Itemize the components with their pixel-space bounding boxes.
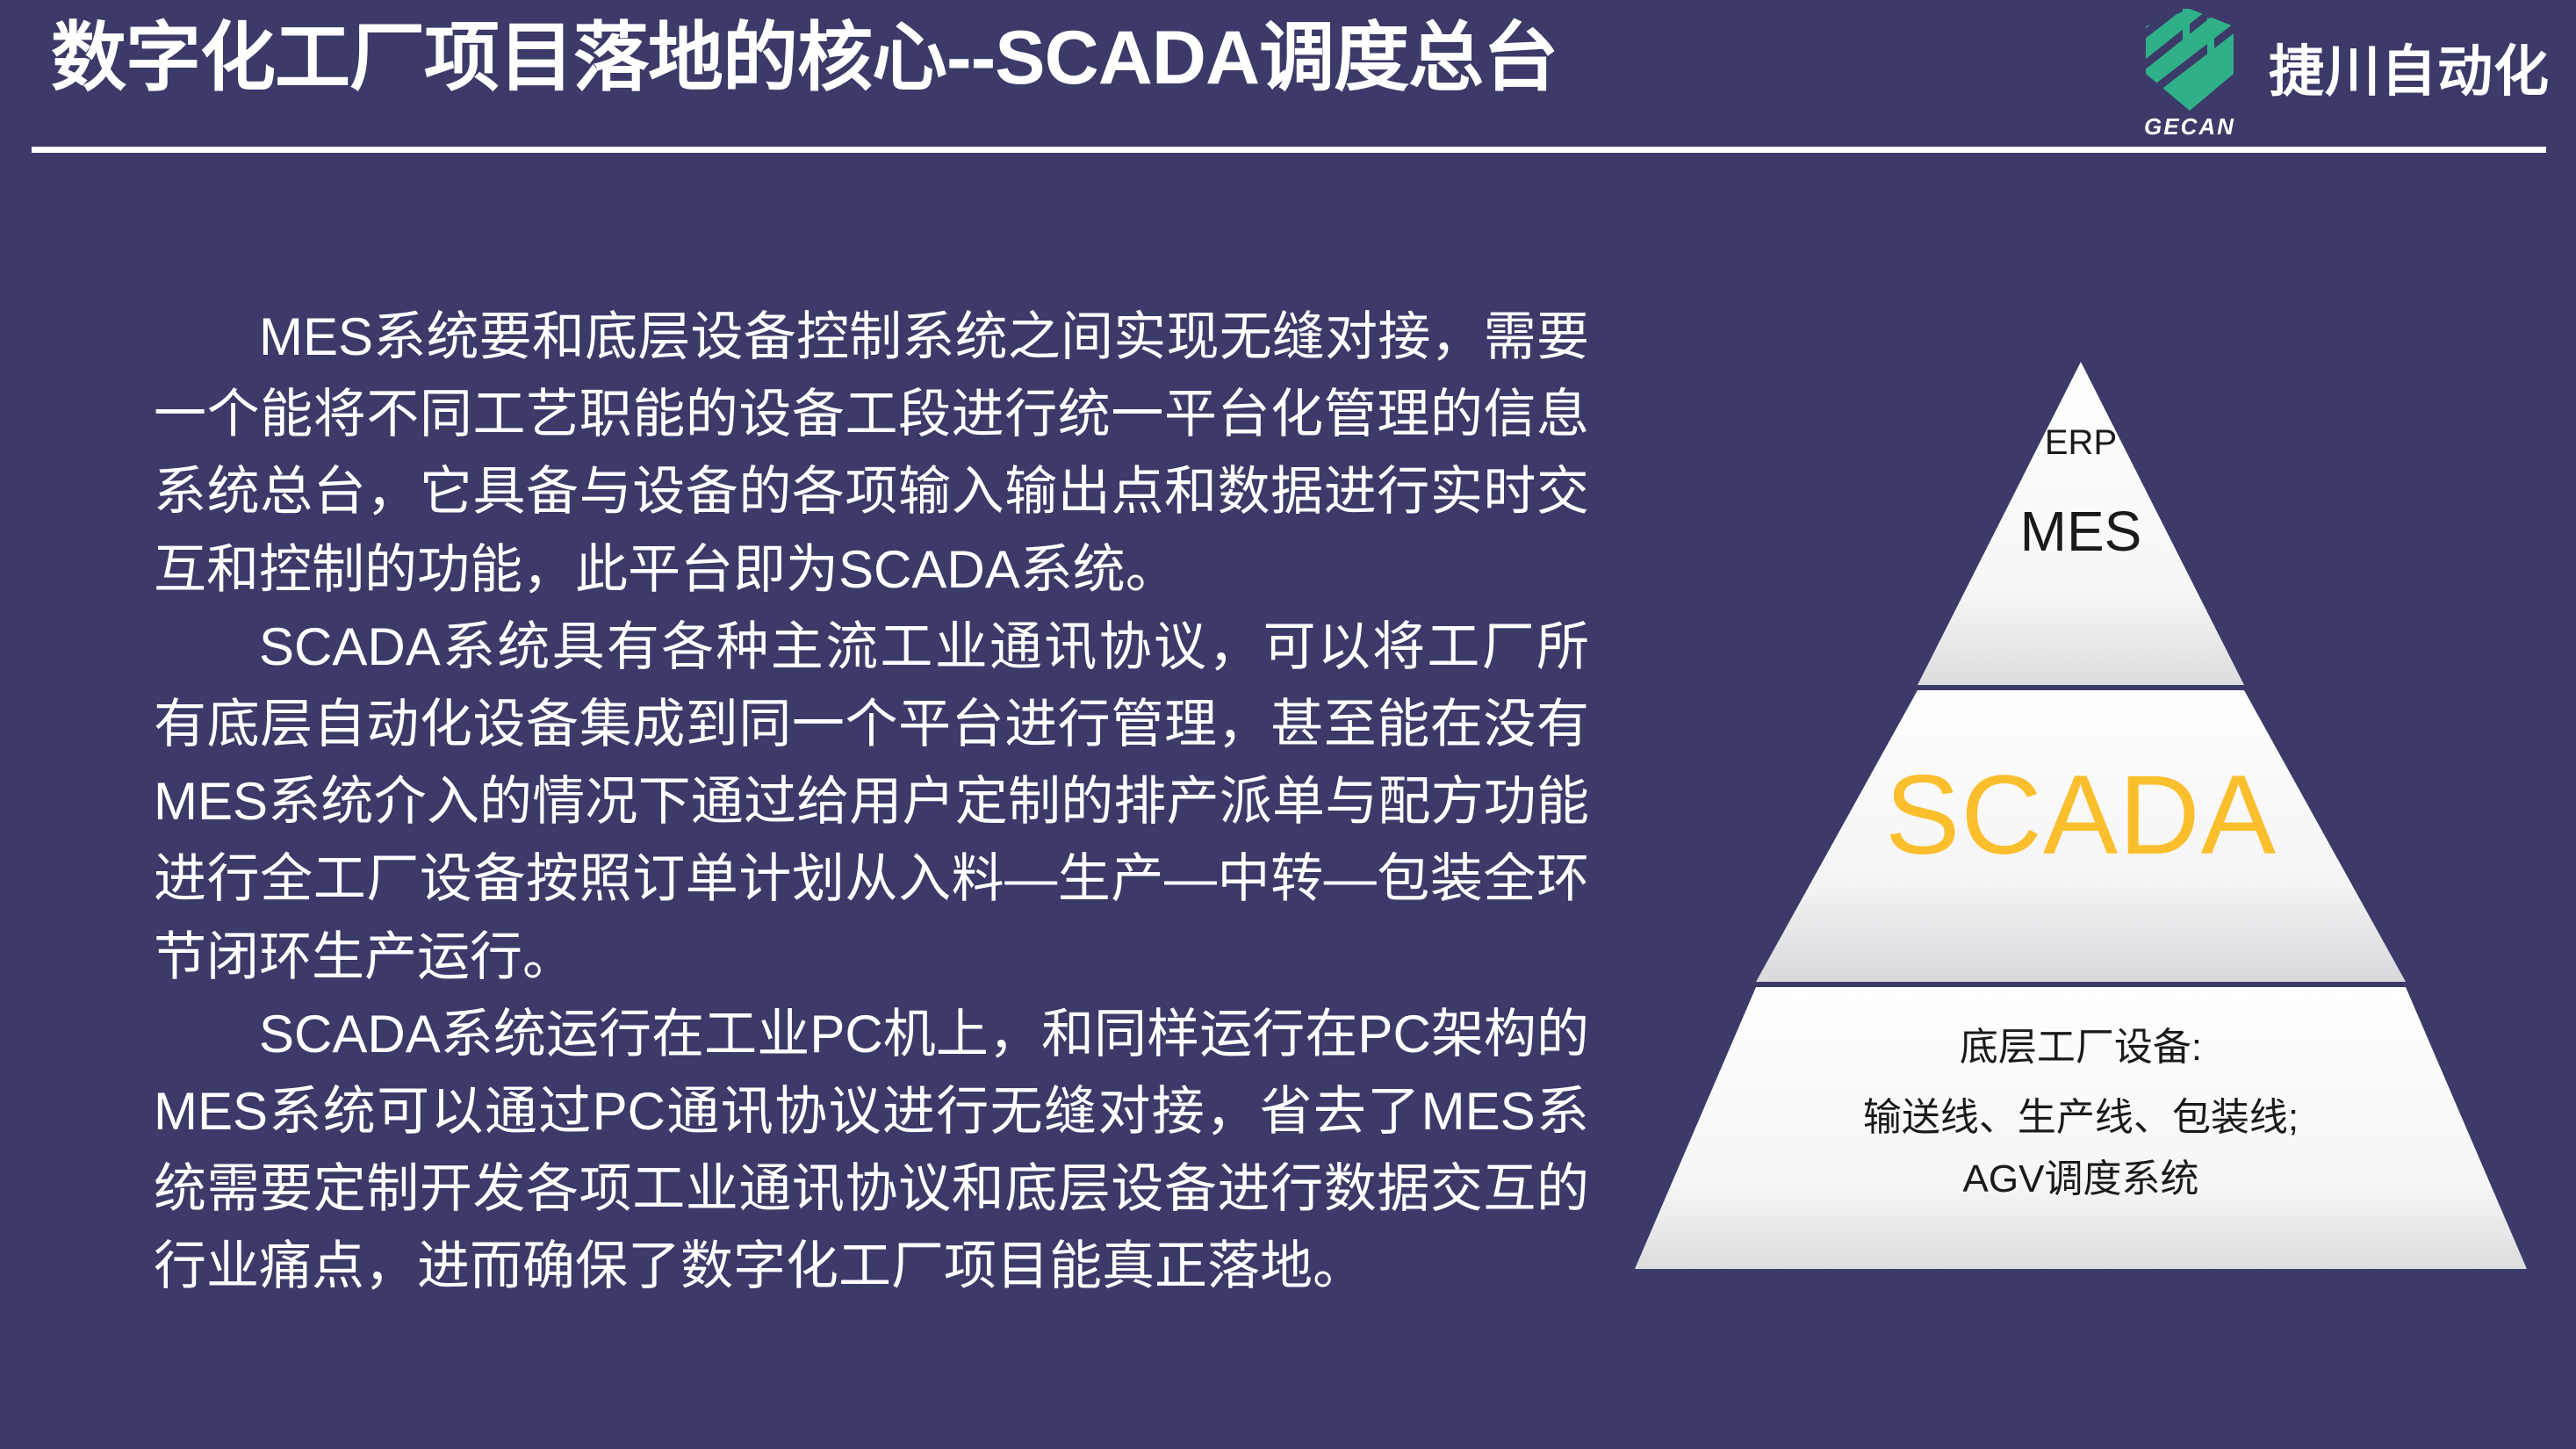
pyramid-diagram: ERP MES SCADA 底层工厂设备: 输送线、生产线、包装线; AGV调度…: [1615, 342, 2546, 1287]
pyramid-base-line-1: 输送线、生产线、包装线;: [1615, 1085, 2546, 1142]
brand-logo-group: GECAN 捷川自动化: [2133, 7, 2550, 139]
paragraph-1: MES系统要和底层设备控制系统之间实现无缝对接，需要一个能将不同工艺职能的设备工…: [154, 299, 1589, 609]
body-content: MES系统要和底层设备控制系统之间实现无缝对接，需要一个能将不同工艺职能的设备工…: [154, 299, 1589, 1305]
pyramid-tier-label-erp: ERP: [1615, 423, 2546, 463]
gecan-hexagon-logo-icon: GECAN: [2133, 7, 2246, 139]
brand-wordmark: GECAN: [2133, 113, 2246, 141]
page-title: 数字化工厂项目落地的核心--SCADA调度总台: [51, 7, 1558, 109]
slide-header: 数字化工厂项目落地的核心--SCADA调度总台: [0, 0, 2576, 162]
pyramid-base-heading: 底层工厂设备:: [1615, 1015, 2546, 1071]
pyramid-base-line-2: AGV调度系统: [1615, 1147, 2546, 1203]
header-divider: [32, 147, 2546, 153]
paragraph-3: SCADA系统运行在工业PC机上，和同样运行在PC架构的MES系统可以通过PC通…: [154, 996, 1589, 1306]
pyramid-tier-label-scada: SCADA: [1615, 751, 2546, 880]
paragraph-2: SCADA系统具有各种主流工业通讯协议，可以将工厂所有底层自动化设备集成到同一个…: [154, 609, 1589, 996]
pyramid-tier-label-mes: MES: [1615, 499, 2546, 564]
brand-name: 捷川自动化: [2269, 27, 2550, 119]
